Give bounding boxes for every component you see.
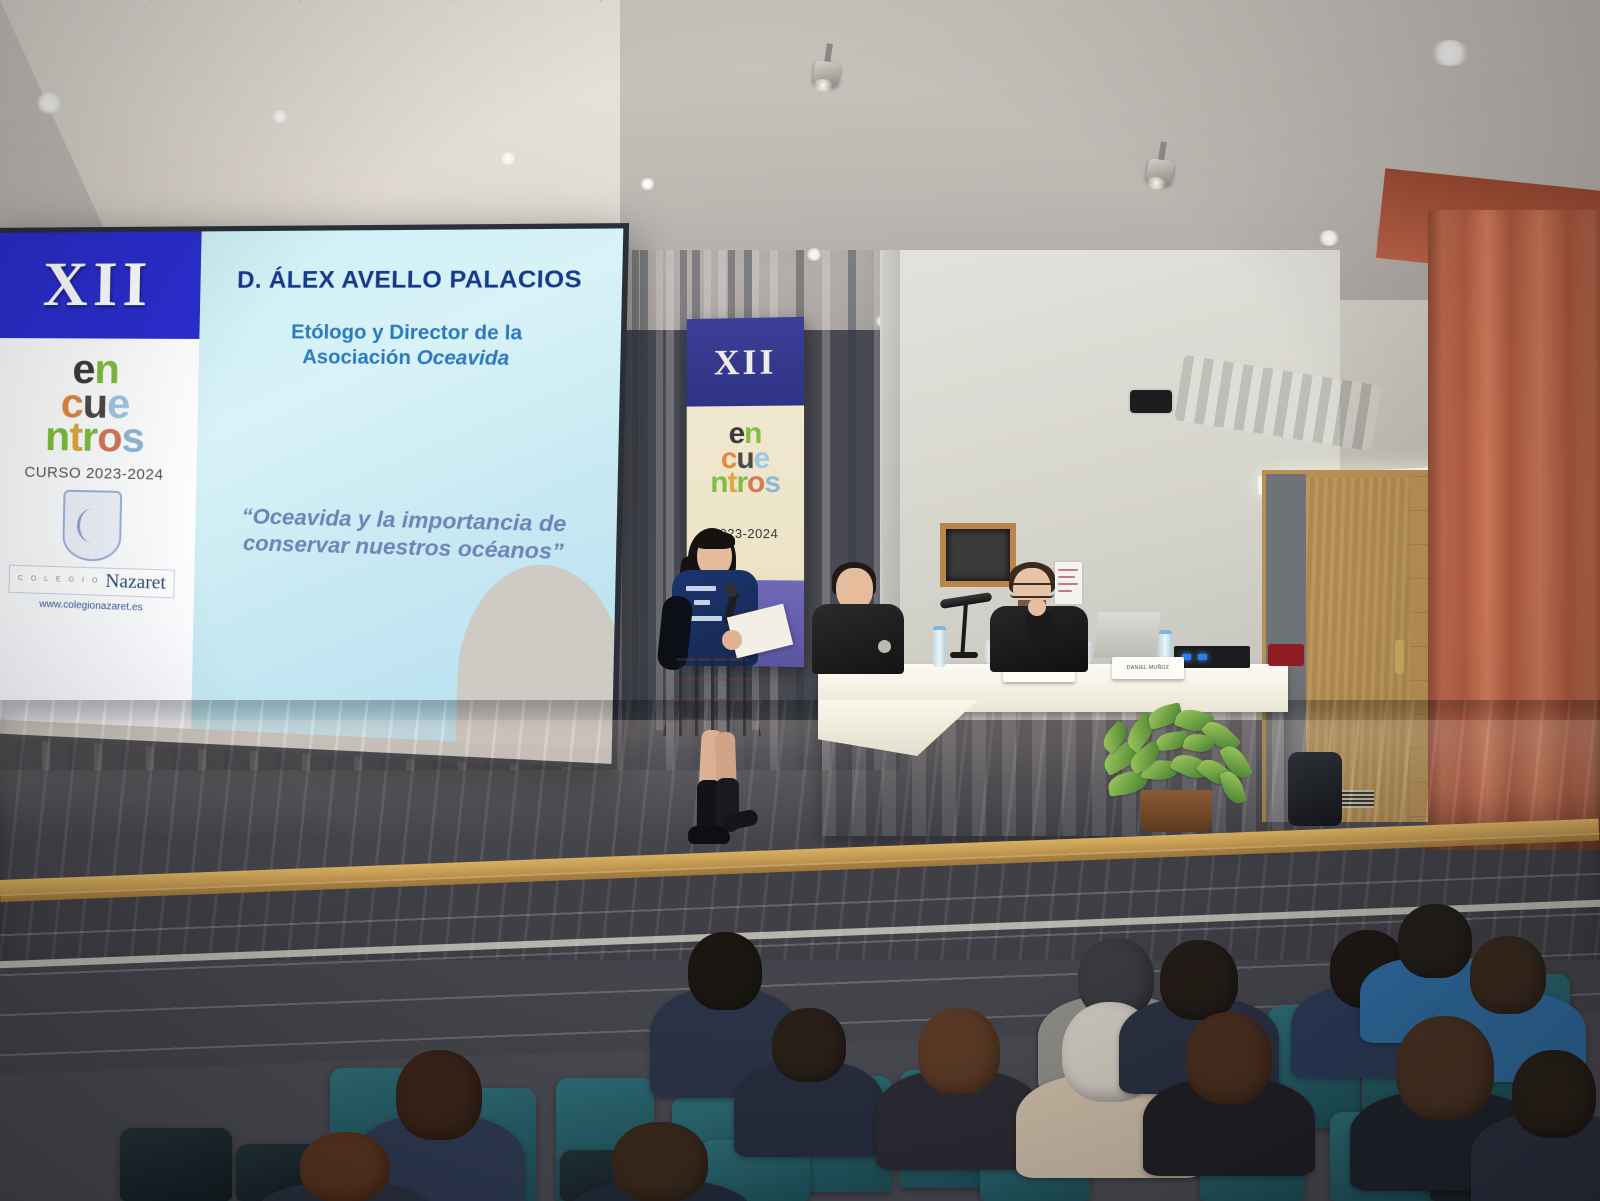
microphone-base (950, 652, 978, 658)
auditorium-seat[interactable] (120, 1128, 232, 1201)
slide-speaker-name: D. ÁLEX AVELLO PALACIOS (223, 265, 598, 294)
audio-rack-unit[interactable] (1174, 646, 1250, 668)
audience-head (1512, 1050, 1596, 1138)
stage-floor-reflection (0, 720, 1600, 840)
recessed-light-icon (1430, 40, 1470, 66)
banner-encuentros-logo: encuentros (710, 422, 780, 496)
audience-head (1396, 1016, 1494, 1120)
speaker-left-shirt-logo (878, 640, 891, 653)
presenter-plaid-skirt (663, 658, 761, 736)
audience-head (918, 1008, 1000, 1094)
audience-head (688, 932, 762, 1010)
presenter-fringe (694, 531, 735, 549)
audience-head (612, 1122, 708, 1201)
projection-screen: XII encuentros CURSO 2023-2024 C O L E G… (0, 223, 629, 770)
banner-roman-band: XII (687, 317, 804, 407)
audience-head (396, 1050, 482, 1140)
potted-plant-leaves (1098, 700, 1258, 810)
encuentros-logo-row: ntros (710, 471, 780, 496)
encuentros-logo-letter: s (121, 421, 144, 456)
encuentros-logo-letter: t (69, 420, 82, 454)
slide-role-org: Oceavida (416, 347, 509, 370)
wall-paper-sign (1055, 562, 1082, 604)
door-handle-icon[interactable] (1395, 640, 1404, 674)
slide-course-label: CURSO 2023-2024 (24, 464, 163, 484)
slide-right-column: D. ÁLEX AVELLO PALACIOS Etólogo y Direct… (190, 228, 623, 763)
handheld-microphone-head-icon[interactable] (725, 584, 738, 597)
school-url: www.colegionazaret.es (39, 599, 143, 614)
recessed-light-icon (272, 110, 288, 123)
encuentros-logo-letter: o (747, 466, 764, 499)
presentation-slide: XII encuentros CURSO 2023-2024 C O L E G… (0, 228, 623, 763)
recessed-light-icon (500, 152, 516, 165)
slide-role-line1: Etólogo y Director de la (291, 322, 522, 345)
school-name: Nazaret (105, 570, 166, 594)
school-crest-icon (62, 489, 122, 561)
school-colegio-label: C O L E G I O (18, 575, 101, 585)
presenter-hand (722, 630, 742, 650)
audience-head (1398, 904, 1472, 978)
banner-roman-numeral: XII (714, 340, 777, 383)
encuentros-logo-letter: n (710, 466, 727, 499)
speaker-right-hand (1028, 598, 1046, 616)
encuentros-logo-letter: n (45, 420, 70, 454)
wall-window-opening (940, 523, 1016, 587)
glasses-icon (1010, 583, 1054, 598)
encuentros-logo-letter: r (736, 466, 747, 499)
encuentros-logo: encuentros (45, 352, 146, 455)
encuentros-logo-letter: o (97, 421, 122, 455)
encuentros-logo-letter: s (764, 466, 780, 499)
recessed-light-icon (36, 92, 62, 114)
red-equipment-case (1268, 644, 1304, 666)
audience-head (300, 1132, 390, 1201)
laptop-screen[interactable] (1093, 612, 1160, 660)
slide-roman-band: XII (0, 231, 201, 339)
water-bottle[interactable] (933, 626, 946, 667)
audience-area (0, 900, 1600, 1201)
slide-left-column: XII encuentros CURSO 2023-2024 C O L E G… (0, 231, 201, 743)
slide-role-line2: Asociación (302, 346, 417, 369)
slide-talk-title: “Oceavida y la importancia de conservar … (207, 503, 604, 568)
audience-head (1160, 940, 1238, 1020)
school-crest-block: C O L E G I O Nazaret www.colegionazaret… (8, 488, 177, 614)
encuentros-logo-letter: r (82, 421, 98, 455)
presenter-shoe (688, 826, 730, 844)
encuentros-logo-letter: t (727, 466, 736, 499)
backpack (1288, 752, 1342, 826)
audience-head (772, 1008, 846, 1082)
school-logo-box: C O L E G I O Nazaret (9, 564, 176, 598)
recessed-light-icon (1318, 230, 1340, 246)
speaker-left-torso (812, 604, 904, 674)
audience-head (1470, 936, 1546, 1014)
slide-brand-block: encuentros CURSO 2023-2024 C O L E G I O… (0, 338, 199, 743)
slide-speaker-role: Etólogo y Director de la Asociación Ocea… (221, 321, 596, 373)
slide-roman-numeral: XII (42, 249, 153, 321)
nameplate-right: DANIEL MUÑOZ (1112, 657, 1184, 679)
auditorium-photo-scene: XII encuentros CURSO 2023-2024 C O L E G… (0, 0, 1600, 1201)
recessed-light-icon (640, 178, 655, 190)
wall-vent-icon (1128, 388, 1174, 415)
audience-head (1186, 1012, 1272, 1104)
encuentros-logo-row: ntros (45, 420, 144, 456)
